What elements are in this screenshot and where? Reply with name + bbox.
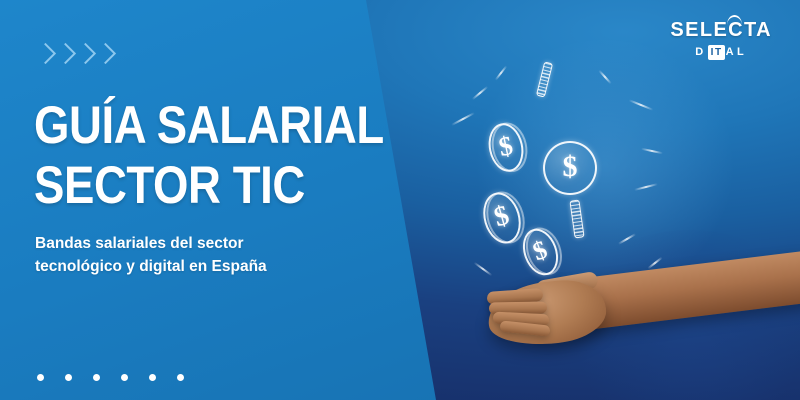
logo-secondary-text: D IT AL <box>670 45 772 60</box>
dot-row <box>37 374 184 381</box>
motion-streak <box>629 99 654 111</box>
coin-tilt-upper-left: $ <box>484 120 527 175</box>
motion-streak <box>474 262 493 277</box>
page-title: GUÍA SALARIAL SECTOR TIC <box>34 96 364 216</box>
chevron-right-icon <box>76 40 93 70</box>
dot-icon <box>121 374 128 381</box>
coin-edge-right <box>569 199 584 238</box>
motion-streak <box>641 148 663 155</box>
motion-streak <box>451 112 475 126</box>
title-line-1: GUÍA SALARIAL <box>34 96 318 156</box>
salary-guide-banner: $$$$ GUÍA SALARIAL SECTOR TIC Bandas sal… <box>0 0 800 400</box>
dot-icon <box>177 374 184 381</box>
dot-icon <box>65 374 72 381</box>
dot-icon <box>37 374 44 381</box>
motion-streak <box>598 70 612 85</box>
motion-streak <box>618 233 636 245</box>
dollar-sign-icon: $ <box>519 226 561 275</box>
chevron-right-icon <box>96 40 113 70</box>
logo-primary-text: SELECTA <box>670 20 772 40</box>
coin-tilt-left: $ <box>478 188 527 248</box>
coin-tilt-lower: $ <box>517 224 564 280</box>
motion-streak <box>472 86 489 100</box>
logo-primary-label: SELECTA <box>670 19 772 41</box>
dollar-sign-icon: $ <box>487 122 525 170</box>
logo-it-badge: IT <box>708 45 725 60</box>
logo-secondary-suffix: AL <box>726 46 747 59</box>
dollar-sign-icon: $ <box>480 191 523 244</box>
chevron-group <box>36 40 113 70</box>
dollar-sign-icon: $ <box>545 143 595 191</box>
dot-icon <box>149 374 156 381</box>
chevron-right-icon <box>36 40 53 70</box>
motion-streak <box>647 257 662 270</box>
coin-face-large: $ <box>543 141 597 195</box>
title-line-2: SECTOR TIC <box>34 156 318 216</box>
chevron-right-icon <box>56 40 73 70</box>
dot-icon <box>93 374 100 381</box>
coin-edge-top <box>536 61 553 97</box>
motion-streak <box>495 65 508 80</box>
subtitle: Bandas salariales del sector tecnológico… <box>35 232 277 278</box>
logo-secondary-prefix: D <box>695 46 706 59</box>
motion-streak <box>634 183 658 191</box>
brand-logo: SELECTA D IT AL <box>670 20 772 60</box>
